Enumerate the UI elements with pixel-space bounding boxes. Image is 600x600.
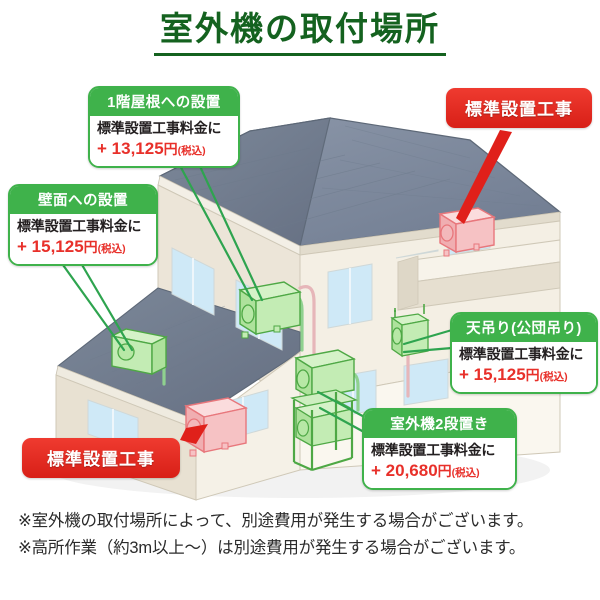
outdoor-unit-ceiling-hung bbox=[392, 304, 428, 356]
price-tax: (税込) bbox=[452, 467, 480, 479]
callout-ceiling-hang-line1: 標準設置工事料金に bbox=[459, 345, 589, 363]
callout-two-tier-body: 標準設置工事料金に + 20,680円(税込) bbox=[364, 438, 515, 488]
callout-roof-1f-price: + 13,125円(税込) bbox=[97, 138, 231, 161]
callout-two-tier-header: 室外機2段置き bbox=[364, 410, 515, 438]
infographic-page: 室外機の取付場所 bbox=[0, 0, 600, 600]
callout-roof-1f-line1: 標準設置工事料金に bbox=[97, 119, 231, 137]
callout-roof-1f-body: 標準設置工事料金に + 13,125円(税込) bbox=[90, 116, 238, 166]
outdoor-unit-balcony bbox=[440, 208, 494, 256]
outdoor-unit-wall-mounted bbox=[112, 329, 166, 374]
callout-two-tier-price: + 20,680円(税込) bbox=[371, 460, 508, 483]
footnote-1: ※室外機の取付場所によって、別途費用が発生する場合がございます。 bbox=[18, 508, 588, 535]
price-yen: 円 bbox=[164, 141, 178, 157]
price-plus: + bbox=[17, 237, 27, 256]
callout-ceiling-hang[interactable]: 天吊り(公団吊り) 標準設置工事料金に + 15,125円(税込) bbox=[450, 312, 598, 394]
price-plus: + bbox=[459, 365, 469, 384]
price-amount: 15,125 bbox=[32, 237, 84, 256]
callout-ceiling-hang-body: 標準設置工事料金に + 15,125円(税込) bbox=[452, 342, 596, 392]
callout-wall-line1: 標準設置工事料金に bbox=[17, 217, 149, 235]
callout-wall[interactable]: 壁面への設置 標準設置工事料金に + 15,125円(税込) bbox=[8, 184, 158, 266]
price-tax: (税込) bbox=[98, 243, 126, 255]
price-amount: 20,680 bbox=[386, 461, 438, 480]
price-yen: 円 bbox=[84, 239, 98, 255]
callout-roof-1f[interactable]: 1階屋根への設置 標準設置工事料金に + 13,125円(税込) bbox=[88, 86, 240, 168]
footnote-2: ※高所作業（約3m以上〜）は別途費用が発生する場合がございます。 bbox=[18, 535, 588, 562]
callout-two-tier-line1: 標準設置工事料金に bbox=[371, 441, 508, 459]
price-plus: + bbox=[371, 461, 381, 480]
price-yen: 円 bbox=[526, 367, 540, 383]
page-title-wrapper: 室外機の取付場所 bbox=[0, 8, 600, 56]
badge-standard-top[interactable]: 標準設置工事 bbox=[446, 88, 592, 128]
footnotes: ※室外機の取付場所によって、別途費用が発生する場合がございます。 ※高所作業（約… bbox=[18, 508, 588, 561]
callout-ceiling-hang-price: + 15,125円(税込) bbox=[459, 364, 589, 387]
outdoor-unit-two-tier bbox=[292, 350, 356, 470]
callout-roof-1f-header: 1階屋根への設置 bbox=[90, 88, 238, 116]
badge-standard-bottom[interactable]: 標準設置工事 bbox=[22, 438, 180, 478]
price-plus: + bbox=[97, 139, 107, 158]
price-yen: 円 bbox=[438, 463, 452, 479]
price-amount: 15,125 bbox=[474, 365, 526, 384]
callout-wall-body: 標準設置工事料金に + 15,125円(税込) bbox=[10, 214, 156, 264]
leader-pointers-red bbox=[180, 130, 512, 444]
callout-wall-header: 壁面への設置 bbox=[10, 186, 156, 214]
page-title: 室外機の取付場所 bbox=[154, 8, 446, 56]
outdoor-unit-ground bbox=[186, 398, 246, 456]
price-tax: (税込) bbox=[540, 371, 568, 383]
callout-ceiling-hang-header: 天吊り(公団吊り) bbox=[452, 314, 596, 342]
callout-wall-price: + 15,125円(税込) bbox=[17, 236, 149, 259]
outdoor-unit-roof-1f bbox=[240, 282, 300, 338]
callout-two-tier[interactable]: 室外機2段置き 標準設置工事料金に + 20,680円(税込) bbox=[362, 408, 517, 490]
price-tax: (税込) bbox=[178, 145, 206, 157]
price-amount: 13,125 bbox=[112, 139, 164, 158]
